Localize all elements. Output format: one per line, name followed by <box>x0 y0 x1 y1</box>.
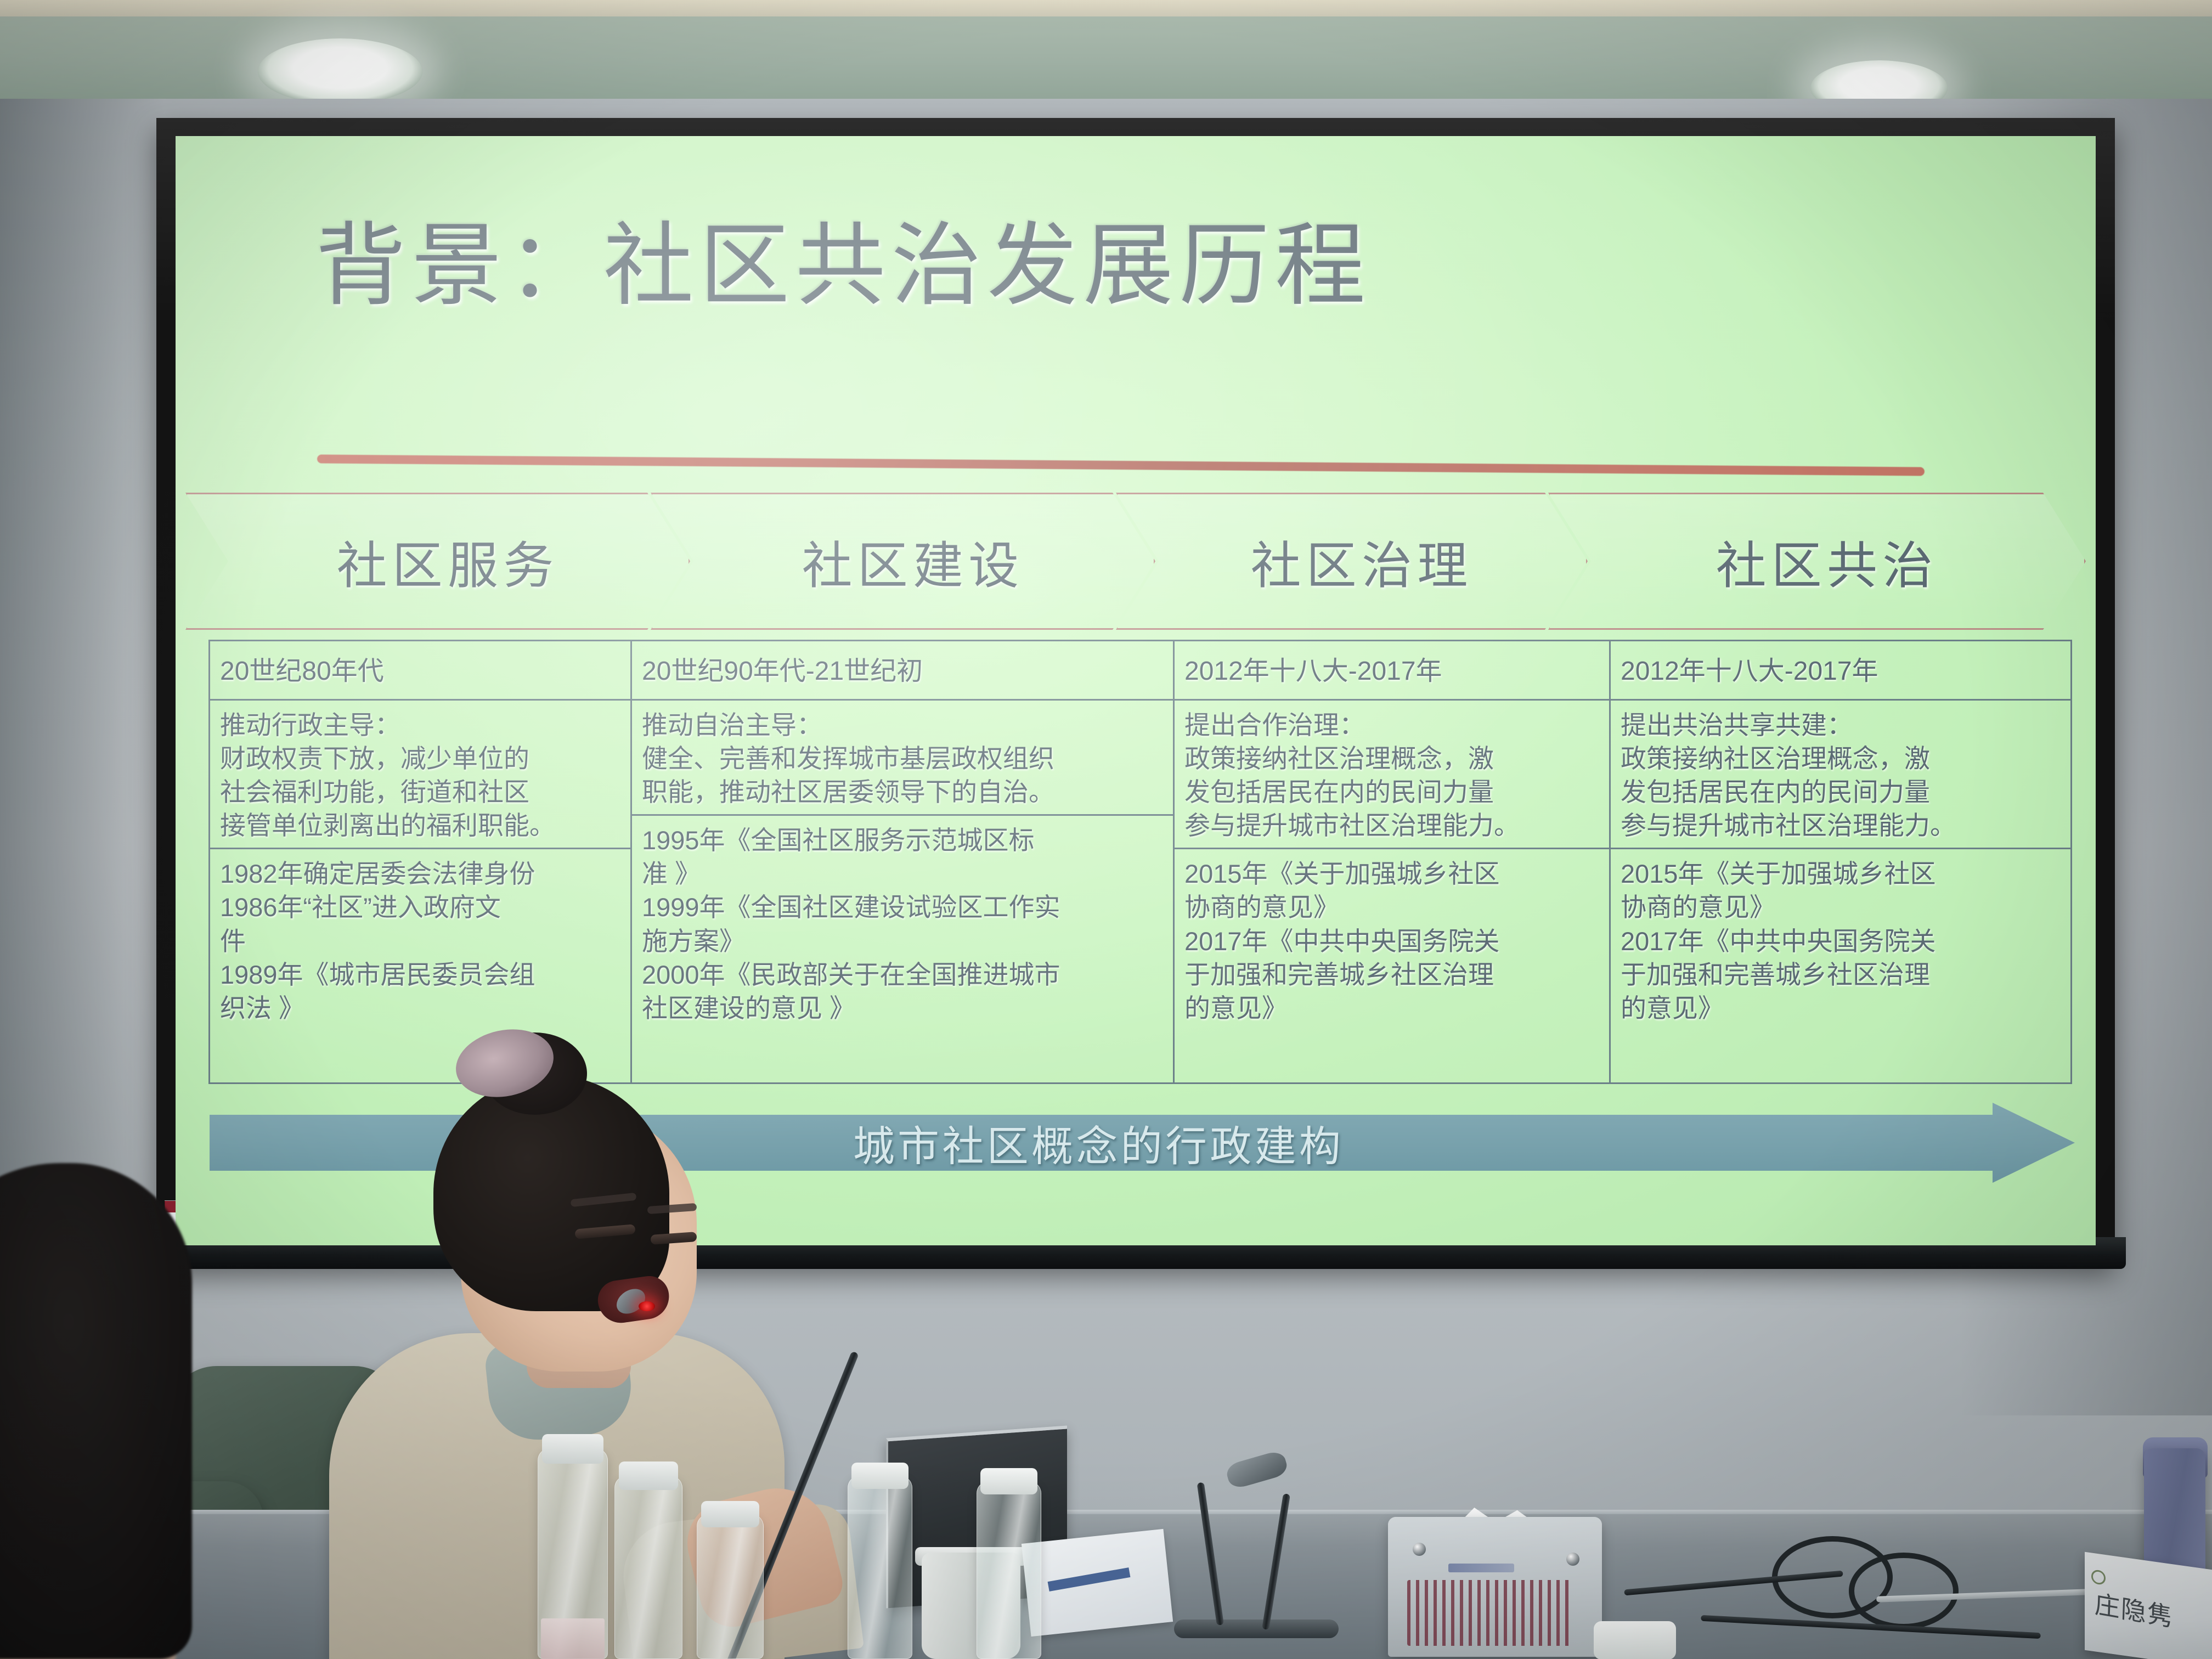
column-era: 20世纪90年代-21世纪初 <box>632 641 1173 701</box>
column-documents: 2015年《关于加强城乡社区 协商的意见》 2017年《中共中央国务院关 于加强… <box>1175 849 1609 1082</box>
power-adapter <box>1594 1621 1676 1659</box>
column-documents: 1995年《全国社区服务示范城区标 准 》 1999年《全国社区建设试验区工作实… <box>632 816 1173 1082</box>
tissue-box-stud <box>1566 1553 1579 1566</box>
water-bottle <box>977 1481 1041 1659</box>
ceiling-trim <box>0 0 2212 16</box>
ceiling-downlight <box>258 38 422 104</box>
stage-chevron-4: 社区共治 <box>1548 493 2086 630</box>
column-body: 提出共治共享共建： 政策接纳社区治理概念，激 发包括居民在内的民间力量 参与提升… <box>1611 701 2070 849</box>
tissue-box-building-illustration <box>1407 1580 1572 1646</box>
title-underline-rule <box>317 454 1925 476</box>
bottle-cap <box>851 1463 909 1489</box>
stage-chevron-row: 社区服务 社区建设 社区治理 社区共治 <box>185 493 2089 630</box>
bottle-label <box>541 1618 605 1659</box>
slide-title: 背景：社区共治发展历程 <box>315 218 1371 313</box>
bottle-cap <box>980 1468 1037 1494</box>
timeline-column-2: 20世纪90年代-21世纪初 推动自治主导： 健全、完善和发挥城市基层政权组织 … <box>630 640 1175 1084</box>
water-bottle <box>614 1476 682 1659</box>
tissue-box-logo <box>1448 1564 1514 1572</box>
column-body: 推动行政主导： 财政权责下放，减少单位的 社会福利功能，街道和社区 接管单位剥离… <box>210 701 630 849</box>
column-era: 20世纪80年代 <box>210 641 630 701</box>
timeline-column-4: 2012年十八大-2017年 提出共治共享共建： 政策接纳社区治理概念，激 发包… <box>1609 640 2072 1084</box>
column-documents: 2015年《关于加强城乡社区 协商的意见》 2017年《中共中央国务院关 于加强… <box>1611 849 2070 1082</box>
microphone-base[interactable] <box>1174 1620 1339 1638</box>
timeline-table: 20世纪80年代 推动行政主导： 财政权责下放，减少单位的 社会福利功能，街道和… <box>208 640 2074 1084</box>
bottle-cap <box>542 1434 603 1464</box>
timeline-column-1: 20世纪80年代 推动行政主导： 财政权责下放，减少单位的 社会福利功能，街道和… <box>208 640 632 1084</box>
column-body: 提出合作治理： 政策接纳社区治理概念，激 发包括居民在内的民间力量 参与提升城市… <box>1175 701 1609 849</box>
stage-chevron-2: 社区建设 <box>651 493 1155 630</box>
stage-chevron-label: 社区治理 <box>1251 525 1473 598</box>
cable-coil <box>1849 1553 1959 1629</box>
water-bottle <box>848 1476 912 1659</box>
foreground-person-head <box>0 1163 192 1659</box>
stage-chevron-3: 社区治理 <box>1116 493 1588 630</box>
tissue-box-stud <box>1413 1543 1426 1556</box>
timeline-column-3: 2012年十八大-2017年 提出合作治理： 政策接纳社区治理概念，激 发包括居… <box>1173 640 1611 1084</box>
water-bottle <box>697 1514 764 1659</box>
column-body: 推动自治主导： 健全、完善和发挥城市基层政权组织 职能，推动社区居委领导下的自治… <box>632 701 1173 816</box>
column-era: 2012年十八大-2017年 <box>1611 641 2070 701</box>
stage-chevron-label: 社区服务 <box>337 525 559 598</box>
conference-room-scene: 背景：社区共治发展历程 社区服务 社区建设 社区治理 社区共治 20世纪80年代… <box>0 0 2212 1659</box>
stage-chevron-1: 社区服务 <box>185 493 690 630</box>
bottle-cap <box>619 1462 678 1490</box>
stage-chevron-label: 社区共治 <box>1716 525 1938 598</box>
stage-chevron-label: 社区建设 <box>802 525 1024 598</box>
microphone-active-indicator <box>639 1301 655 1311</box>
column-era: 2012年十八大-2017年 <box>1175 641 1609 701</box>
bottle-cap <box>701 1501 759 1527</box>
